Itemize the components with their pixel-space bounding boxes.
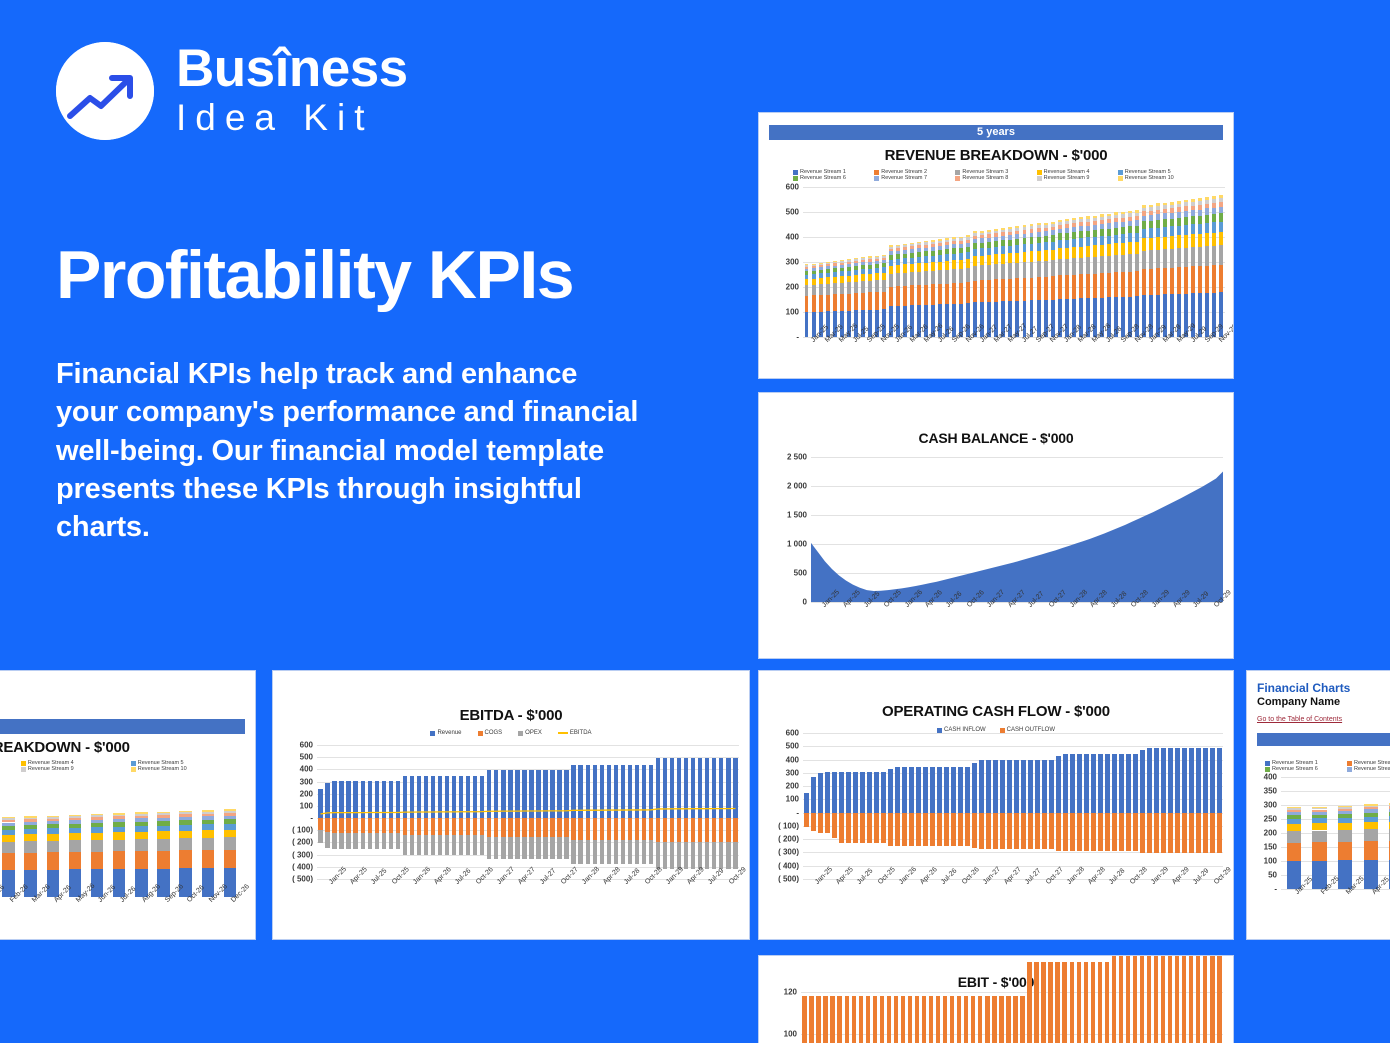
bar-segment [917,248,921,252]
bar-segment [833,294,837,311]
bar-slot [591,745,598,879]
legend-swatch [558,732,568,734]
legend-label: Revenue Stream 7 [881,175,927,181]
bar-slot [831,187,838,337]
bar-segment [1093,274,1097,298]
bar-slot [1281,777,1307,889]
bar-segment [91,840,103,852]
bar-series-group [803,187,1225,337]
bar-segment [522,770,526,818]
bar-segment [1135,213,1139,216]
bar-segment [1149,228,1153,238]
y-axis-tick-label: ( 500) [778,875,799,884]
bar-segment [854,266,858,270]
bar-segment [1023,244,1027,252]
bar-segment [861,258,865,260]
bar-segment [1055,962,1059,1043]
bar-segment [2,835,14,842]
bar-segment [47,870,59,897]
bar-segment [957,996,961,1043]
bar-segment [875,273,879,280]
table-of-contents-link[interactable]: Go to the Table of Contents [1257,716,1342,723]
legend-swatch [1037,170,1042,175]
bar-segment [691,818,695,842]
bar-segment [179,817,191,820]
bar-slot [1021,187,1028,337]
bar-segment [938,250,942,255]
legend-swatch [793,170,798,175]
bar-segment [1196,955,1200,1043]
bar-segment [923,767,927,812]
bar-segment [1008,227,1012,229]
bar-segment [1051,276,1055,299]
bar-segment [494,770,498,818]
bar-segment [938,255,942,262]
bar-slot [859,187,866,337]
bar-segment [805,271,809,275]
bar-segment [1065,219,1069,221]
card-revenue-breakdown-5-years[interactable]: 5 years REVENUE BREAKDOWN - $'000 Revenu… [758,112,1234,379]
bar-segment [873,996,877,1043]
chart-plot-area: 600500400300200100-( 100)( 200)( 300)( 4… [803,733,1223,879]
bar-segment [1077,754,1081,812]
bar-segment [1107,244,1111,255]
bar-segment [501,770,505,818]
bar-segment [1338,842,1352,860]
bar-slot [1126,187,1133,337]
bar-slot [1006,733,1013,879]
bar-segment [901,996,905,1043]
bar-segment [1121,234,1125,243]
bar-segment [1135,216,1139,220]
bar-segment [1312,831,1326,843]
bar-segment [882,267,886,272]
bar-segment [586,818,590,839]
bar-segment [325,783,329,818]
bar-segment [135,818,147,821]
bar-slot [1040,992,1047,1043]
bar-segment [445,818,449,835]
bar-slot [1027,733,1034,879]
bar-segment [2,826,14,830]
bar-segment [1312,818,1326,823]
legend-swatch [21,761,26,766]
bar-segment [179,825,191,831]
bar-segment [202,824,214,830]
bar-slot [824,733,831,879]
bar-segment [607,818,611,839]
legend-item: Revenue Stream 7 [874,175,955,181]
bar-segment [1219,202,1223,207]
bar-segment [202,814,214,817]
bar-segment [593,765,597,819]
bar-segment [1191,210,1195,216]
bar-segment [508,837,512,859]
bar-segment [47,819,59,821]
bar-segment [1219,232,1223,245]
bar-segment [903,245,907,247]
bar-segment [1056,756,1060,812]
bar-segment [1072,247,1076,258]
bar-segment [1147,748,1151,813]
bar-segment [882,255,886,256]
bar-segment [1198,224,1202,234]
legend-label: Revenue Stream 9 [1044,175,1090,181]
page-title: Profitability KPIs [56,240,573,311]
bar-slot [1014,187,1021,337]
bar-slot [1188,992,1195,1043]
bar-segment [1170,205,1174,209]
bar-segment [861,265,865,269]
bar-segment [875,280,879,292]
bar-segment [47,821,59,824]
bar-segment [396,818,400,833]
bar-segment [1287,808,1301,810]
bar-segment [889,260,893,266]
bar-segment [410,818,414,835]
bar-segment [924,285,928,305]
bar-segment [157,826,169,832]
bar-slot [598,745,605,879]
bar-segment [993,813,997,849]
bar-segment [994,231,998,234]
bar-segment [826,284,830,295]
bar-segment [973,249,977,256]
bar-segment [91,833,103,840]
bar-segment [1140,750,1144,813]
card-cash-balance[interactable]: CASH BALANCE - $'000 05001 0001 5002 000… [758,392,1234,659]
bar-slot [1209,992,1216,1043]
bar-segment [557,837,561,859]
bar-segment [508,770,512,818]
card-financial-charts[interactable]: Financial Charts Company Name Go to the … [1246,670,1390,940]
bar-segment [1037,261,1041,277]
bar-segment [1177,235,1181,248]
bar-segment [1177,212,1181,218]
card-operating-cash-flow[interactable]: OPERATING CASH FLOW - $'000 CASH INFLOWC… [758,670,1234,940]
bar-segment [903,273,907,286]
bar-slot [42,789,64,897]
bar-segment [945,245,949,249]
bar-segment [1364,817,1378,822]
bar-slot [873,187,880,337]
bar-slot [943,733,950,879]
legend-item: Revenue Stream 9 [1037,175,1118,181]
bar-segment [840,265,844,268]
bar-segment [840,294,844,311]
brand-name-line2: Idea Kit [176,97,408,140]
bar-slot [1007,187,1014,337]
bar-segment [889,274,893,287]
bar-segment [979,813,983,849]
bar-slot [458,745,465,879]
bar-segment [1217,748,1221,813]
bar-slot [887,187,894,337]
bar-slot [1139,733,1146,879]
bar-slot [1077,187,1084,337]
bar-segment [1121,218,1125,222]
bar-segment [1338,807,1352,809]
y-axis-tick-label: ( 100) [292,826,313,835]
bar-segment [896,254,900,259]
bar-segment [1000,760,1004,813]
bar-segment [113,822,125,826]
bar-slot [535,745,542,879]
bar-segment [459,818,463,835]
bar-segment [91,852,103,869]
bar-slot [1133,187,1140,337]
bar-segment [1119,754,1123,812]
y-axis-tick-label: 1 000 [787,540,807,549]
bar-segment [698,818,702,842]
bar-segment [973,239,977,243]
bar-segment [958,813,962,846]
bar-segment [847,264,851,267]
y-axis-tick-label: 2 000 [787,482,807,491]
bar-slot [521,745,528,879]
bar-segment [1128,213,1132,216]
bar-segment [945,242,949,245]
bar-segment [1212,196,1216,199]
y-axis-tick-label: - [1274,885,1277,894]
bar-segment [1121,272,1125,297]
bar-segment [1149,207,1153,211]
bar-segment [1093,221,1097,225]
bar-slot [894,733,901,879]
bar-segment [564,837,568,859]
bar-slot [857,992,864,1043]
bar-slot [815,992,822,1043]
bar-segment [339,818,343,833]
bar-segment [1170,208,1174,213]
bar-slot [1195,733,1202,879]
bar-segment [880,996,884,1043]
bar-slot [725,745,732,879]
bar-segment [1044,242,1048,250]
bar-segment [1058,233,1062,240]
bar-segment [1030,233,1034,238]
bar-segment [719,758,723,818]
bar-segment [938,270,942,284]
bar-segment [1189,748,1193,813]
bar-segment [945,284,949,305]
bar-segment [805,279,809,285]
card-revenue-breakdown-24-months[interactable]: 24 months REVENUE BREAKDOWN - $'000 Reve… [0,670,256,940]
bar-segment [1135,254,1139,272]
bar-segment [91,827,103,832]
bar-segment [887,996,891,1043]
bar-segment [1364,813,1378,817]
bar-segment [318,789,322,818]
bar-segment [24,825,36,829]
bar-segment [846,772,850,812]
bar-segment [931,244,935,247]
bar-segment [375,818,379,833]
bar-segment [994,237,998,241]
bar-segment [1044,236,1048,242]
bar-segment [719,842,723,869]
bar-segment [332,781,336,818]
bar-segment [1184,211,1188,217]
bar-segment [607,765,611,819]
bar-segment [938,246,942,250]
bar-segment [578,840,582,864]
bar-segment [353,781,357,818]
bar-segment [1051,260,1055,276]
bar-segment [578,765,582,819]
bar-segment [1065,248,1069,259]
bar-segment [1205,200,1209,204]
bar-segment [417,776,421,818]
legend-swatch [131,767,136,772]
bar-segment [1205,246,1209,266]
bar-segment [1001,254,1005,264]
y-axis-tick-label: 400 [1264,773,1277,782]
bar-segment [931,242,935,244]
bar-segment [698,758,702,818]
bar-segment [1170,219,1174,227]
bar-segment [854,293,858,310]
bar-segment [332,833,336,850]
bar-segment [917,263,921,271]
bar-slot [866,187,873,337]
bar-segment [628,818,632,839]
bar-segment [959,283,963,304]
bar-segment [945,270,949,284]
legend-swatch [518,731,523,736]
bar-segment [840,260,844,261]
bar-slot [1000,187,1007,337]
bar-segment [1210,955,1214,1043]
bar-segment [938,284,942,305]
bar-segment [1079,231,1083,238]
bar-segment [805,267,809,269]
bar-segment [833,261,837,262]
bar-segment [854,263,858,266]
bar-segment [980,265,984,280]
bar-segment [1170,236,1174,249]
bar-slot [1076,733,1083,879]
bar-slot [1062,733,1069,879]
bar-segment [861,262,865,265]
bar-slot [1153,992,1160,1043]
card-ebitda[interactable]: EBITDA - $'000 RevenueCOGSOPEXEBITDA 600… [272,670,750,940]
legend-swatch [430,731,435,736]
bar-segment [1135,210,1139,213]
bar-segment [840,263,844,265]
bar-slot [950,733,957,879]
bar-segment [980,248,984,255]
bar-segment [1063,813,1067,851]
bar-segment [910,246,914,249]
bar-segment [1086,222,1090,226]
bar-segment [980,256,984,266]
bar-slot [1097,733,1104,879]
bar-slot [1211,187,1218,337]
bar-segment [931,256,935,263]
bar-segment [1219,195,1223,198]
bar-slot [935,992,942,1043]
bar-segment [529,837,533,859]
bar-slot [1167,992,1174,1043]
y-axis-tick-label: 400 [786,233,799,242]
chart-legend: Revenue Stream 1Revenue Stream 2Revenue … [1265,760,1390,772]
legend-label: COGS [485,730,503,736]
bar-segment [1065,233,1069,240]
bar-segment [705,818,709,842]
bar-slot [852,187,859,337]
bar-segment [726,758,730,818]
legend-swatch [1000,728,1005,733]
bar-segment [1154,813,1158,854]
bar-segment [1114,272,1118,297]
bar-segment [943,996,947,1043]
bar-segment [1177,248,1181,267]
bar-segment [1149,250,1153,269]
area-series-cash-balance [811,457,1223,602]
y-axis-tick-label: ( 100) [778,821,799,830]
bar-segment [1198,198,1202,201]
bar-slot [829,992,836,1043]
bar-segment [1147,813,1151,854]
bar-slot [430,745,437,879]
bar-segment [113,816,125,819]
y-axis-tick-label: 200 [786,283,799,292]
bar-segment [179,820,191,825]
bar-segment [889,247,893,249]
bar-segment [952,283,956,304]
bar-segment [494,818,498,837]
bar-segment [1364,806,1378,808]
bar-segment [1133,955,1137,1043]
bar-segment [896,248,900,251]
bar-segment [157,815,169,818]
bar-slot [1082,992,1089,1043]
bar-segment [47,852,59,869]
legend-swatch [874,176,879,181]
bar-slot [977,992,984,1043]
y-axis-tick-label: 400 [300,765,313,774]
bar-segment [135,822,147,827]
bar-segment [1008,279,1012,302]
growth-chart-circle-icon [56,42,154,140]
bar-segment [854,270,858,275]
bar-segment [931,251,935,256]
bar-segment [202,816,214,819]
bar-segment [1015,263,1019,279]
bar-segment [832,813,836,838]
bar-segment [881,813,885,844]
bar-segment [1037,277,1041,300]
bar-segment [917,272,921,286]
bar-segment [1114,215,1118,218]
bar-segment [994,264,998,279]
bar-slot [1083,733,1090,879]
bar-segment [1163,227,1167,237]
bar-segment [1049,760,1053,813]
bar-segment [179,831,191,839]
bar-segment [805,264,809,265]
bar-segment [868,281,872,293]
card-ebit[interactable]: EBIT - $'000 12010080 [758,955,1234,1043]
bar-segment [896,259,900,265]
bar-segment [910,243,914,245]
bar-segment [826,263,830,265]
bar-segment [1126,955,1130,1043]
legend-label: Revenue Stream 6 [800,175,846,181]
bar-slot [942,992,949,1043]
bar-slot [899,992,906,1043]
